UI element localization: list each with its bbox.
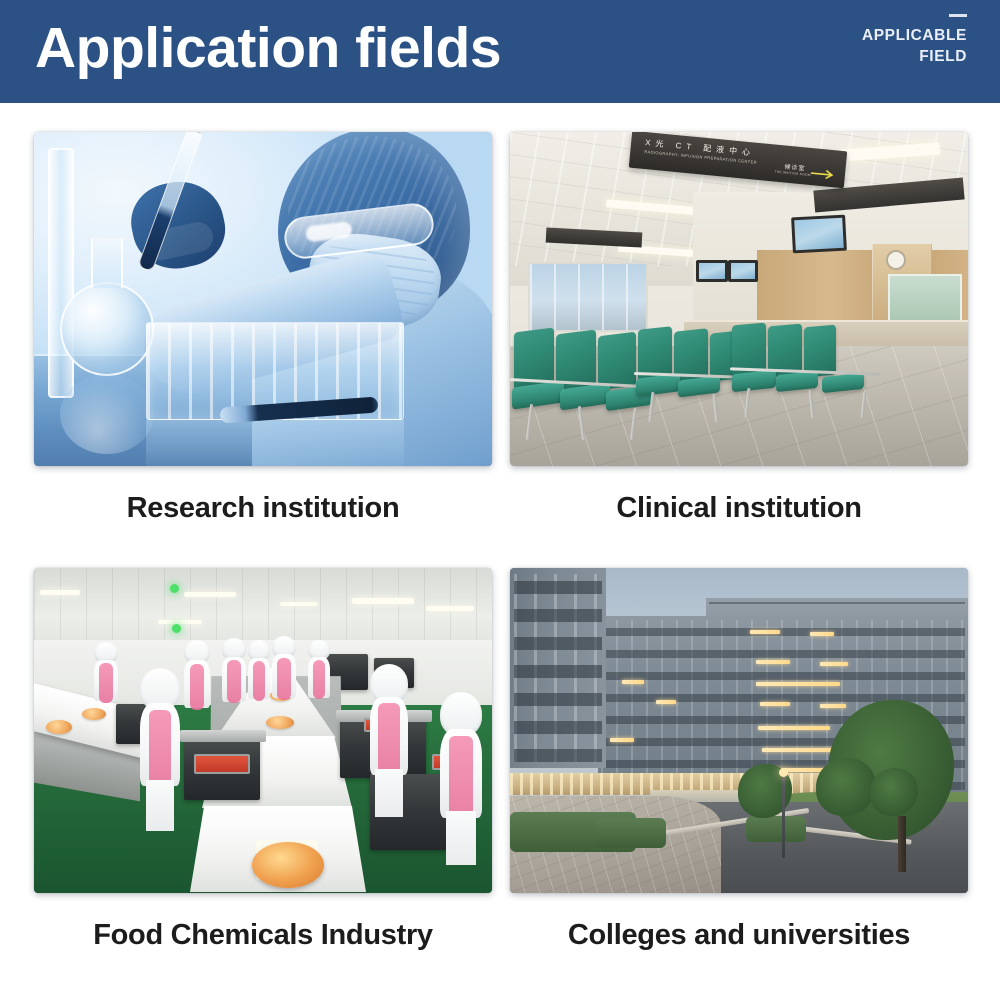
lit-window bbox=[820, 704, 846, 708]
flask-reflection bbox=[60, 374, 154, 454]
tube-rack-reflection bbox=[146, 420, 404, 466]
application-fields-grid: Research institution bbox=[0, 103, 1000, 1000]
clinical-institution-photo: X光 CT 配液中心 RADIOGRAPHY, INFUSION PREPARA… bbox=[510, 132, 968, 466]
information-monitor bbox=[728, 260, 758, 282]
worker-apron bbox=[227, 660, 240, 703]
ceiling-lamp bbox=[40, 590, 80, 595]
ceiling-lamp bbox=[352, 598, 414, 604]
food-item bbox=[252, 842, 324, 888]
factory-ceiling bbox=[34, 568, 492, 649]
information-monitor bbox=[696, 260, 728, 282]
lit-window bbox=[820, 662, 848, 666]
page-title: Application fields bbox=[35, 12, 501, 84]
ceiling-lamp bbox=[426, 606, 474, 611]
lit-window bbox=[750, 630, 780, 634]
ceiling-lamp bbox=[158, 620, 202, 624]
lit-window bbox=[758, 726, 830, 730]
campus-photo bbox=[510, 568, 968, 893]
information-monitor bbox=[791, 215, 847, 254]
worker-apron bbox=[253, 661, 265, 701]
street-lamp-light bbox=[779, 768, 788, 777]
research-institution-photo bbox=[34, 132, 492, 466]
status-light-icon bbox=[170, 584, 179, 593]
worker-apron bbox=[99, 663, 112, 703]
card-food-chemicals-industry[interactable]: Food Chemicals Industry bbox=[34, 568, 492, 893]
worker-apron bbox=[149, 710, 171, 790]
header-subtitle-line2: FIELD bbox=[767, 46, 967, 67]
notice-board bbox=[888, 274, 962, 326]
lit-window bbox=[756, 682, 840, 686]
worker-legs bbox=[446, 811, 476, 865]
tree-trunk bbox=[898, 816, 906, 872]
arrow-right-icon bbox=[811, 168, 838, 180]
campus-building-left bbox=[510, 568, 606, 768]
card-caption: Colleges and universities bbox=[510, 919, 968, 952]
product-tray bbox=[194, 754, 250, 774]
lit-window bbox=[810, 632, 834, 636]
factory-worker bbox=[184, 640, 210, 732]
ceiling-lamp bbox=[280, 602, 318, 606]
window-wall bbox=[528, 262, 648, 332]
page-header: Application fields APPLICABLE FIELD bbox=[0, 0, 1000, 103]
worker-legs bbox=[375, 769, 402, 817]
worker-apron bbox=[313, 660, 325, 699]
worker-apron bbox=[277, 658, 290, 700]
lit-window bbox=[760, 702, 790, 706]
card-clinical-institution[interactable]: X光 CT 配液中心 RADIOGRAPHY, INFUSION PREPARA… bbox=[510, 132, 968, 466]
card-caption: Clinical institution bbox=[510, 492, 968, 525]
worker-legs bbox=[146, 780, 175, 831]
factory-worker bbox=[94, 642, 118, 722]
round-bottom-flask bbox=[60, 282, 154, 376]
worker-apron bbox=[190, 664, 205, 710]
application-fields-page: Application fields APPLICABLE FIELD bbox=[0, 0, 1000, 1000]
street-lamp-post bbox=[782, 774, 785, 858]
card-caption: Food Chemicals Industry bbox=[34, 919, 492, 952]
wall-clock-icon bbox=[886, 250, 906, 270]
sign-secondary-en: THE WAITING ROOM bbox=[774, 170, 811, 177]
lit-window bbox=[610, 738, 634, 742]
factory-worker bbox=[440, 692, 482, 862]
lit-window bbox=[656, 700, 676, 704]
hedge bbox=[596, 818, 666, 848]
food-industry-photo bbox=[34, 568, 492, 893]
factory-worker bbox=[248, 640, 270, 720]
card-research-institution[interactable]: Research institution bbox=[34, 132, 492, 466]
header-badge: APPLICABLE FIELD bbox=[767, 14, 967, 67]
hedge bbox=[746, 816, 806, 842]
card-caption: Research institution bbox=[34, 492, 492, 525]
card-colleges-universities[interactable]: Colleges and universities bbox=[510, 568, 968, 893]
factory-worker bbox=[272, 636, 296, 720]
factory-worker bbox=[308, 640, 330, 718]
lit-window bbox=[622, 680, 644, 684]
status-light-icon bbox=[172, 624, 181, 633]
graduated-cylinder bbox=[48, 148, 74, 398]
horizontal-dash-icon bbox=[949, 14, 967, 17]
lit-window bbox=[756, 660, 790, 664]
worker-apron bbox=[378, 703, 399, 778]
factory-worker bbox=[222, 638, 246, 724]
factory-worker bbox=[140, 668, 180, 828]
factory-worker bbox=[370, 664, 408, 814]
worker-apron bbox=[449, 736, 473, 821]
ceiling-lamp bbox=[184, 592, 236, 597]
header-subtitle-line1: APPLICABLE bbox=[767, 25, 967, 46]
food-item bbox=[46, 720, 72, 734]
